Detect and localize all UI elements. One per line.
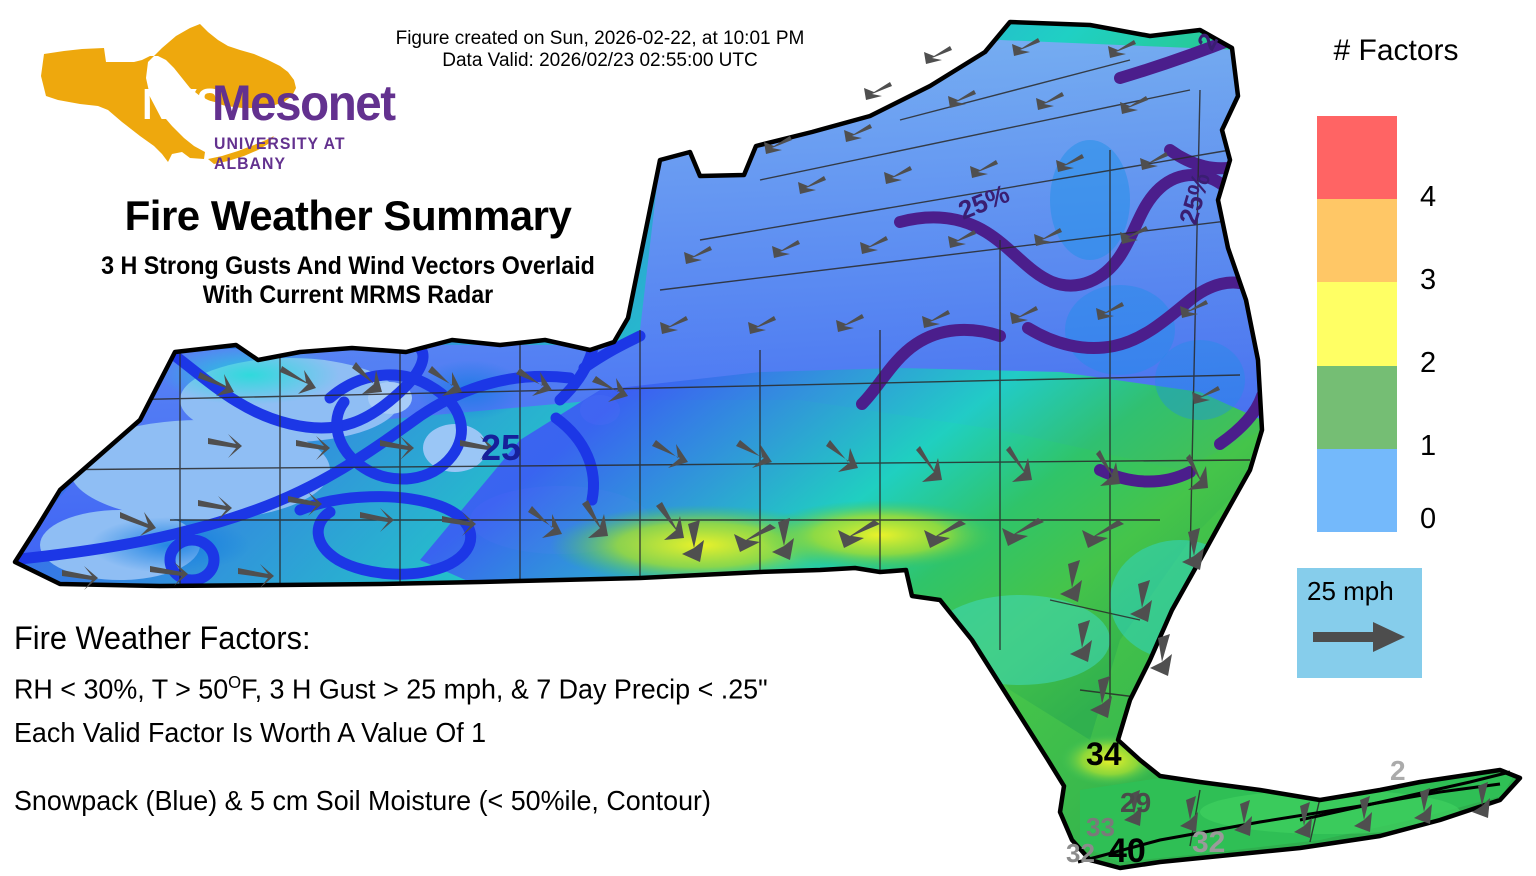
criteria-pre: RH < 30%, T > 50: [14, 673, 228, 704]
radar-blue-core: [1155, 340, 1245, 420]
gust-label: 32: [1066, 838, 1095, 868]
colorbar-band-0: [1317, 449, 1397, 532]
footer-spacer: [14, 755, 934, 779]
criteria-line: RH < 30%, T > 50OF, 3 H Gust > 25 mph, &…: [14, 660, 897, 711]
factors-colorbar: [1317, 116, 1397, 532]
gust-label: 2: [1390, 755, 1406, 786]
colorbar-tick-4: 4: [1420, 183, 1436, 212]
gust-label: 40: [1108, 832, 1146, 870]
footer-text-block: Fire Weather Factors: RH < 30%, T > 50OF…: [14, 616, 934, 823]
colorbar-tick-1: 1: [1420, 432, 1436, 461]
gust-label: 34: [1086, 736, 1122, 772]
colorbar-tick-3: 3: [1420, 266, 1436, 295]
factor-value-line: Each Valid Factor Is Worth A Value Of 1: [14, 711, 897, 755]
colorbar-band-1: [1317, 366, 1397, 449]
wind-arrow: [924, 46, 952, 64]
degree-symbol: O: [228, 672, 241, 692]
colorbar-band-2: [1317, 282, 1397, 365]
gust-label: 32: [1192, 826, 1225, 859]
colorbar-title: # Factors: [1286, 34, 1506, 68]
criteria-post: F, 3 H Gust > 25 mph, & 7 Day Precip < .…: [241, 673, 767, 704]
radar-blue-core: [1050, 140, 1130, 260]
colorbar-band-3: [1317, 199, 1397, 282]
colorbar-band-4: [1317, 116, 1397, 199]
fire-weather-factors-heading: Fire Weather Factors:: [14, 616, 897, 660]
colorbar-tick-2: 2: [1420, 349, 1436, 378]
colorbar-tick-0: 0: [1420, 505, 1436, 534]
wind-arrow: [864, 82, 892, 100]
contour-label: 25: [481, 427, 521, 468]
wind-legend-arrow-icon: [1311, 620, 1407, 659]
wind-legend-label: 25 mph: [1307, 576, 1394, 607]
gust-label: 29: [1120, 787, 1151, 818]
wind-vector-legend: 25 mph: [1297, 568, 1422, 678]
snowpack-line: Snowpack (Blue) & 5 cm Soil Moisture (< …: [14, 779, 897, 823]
